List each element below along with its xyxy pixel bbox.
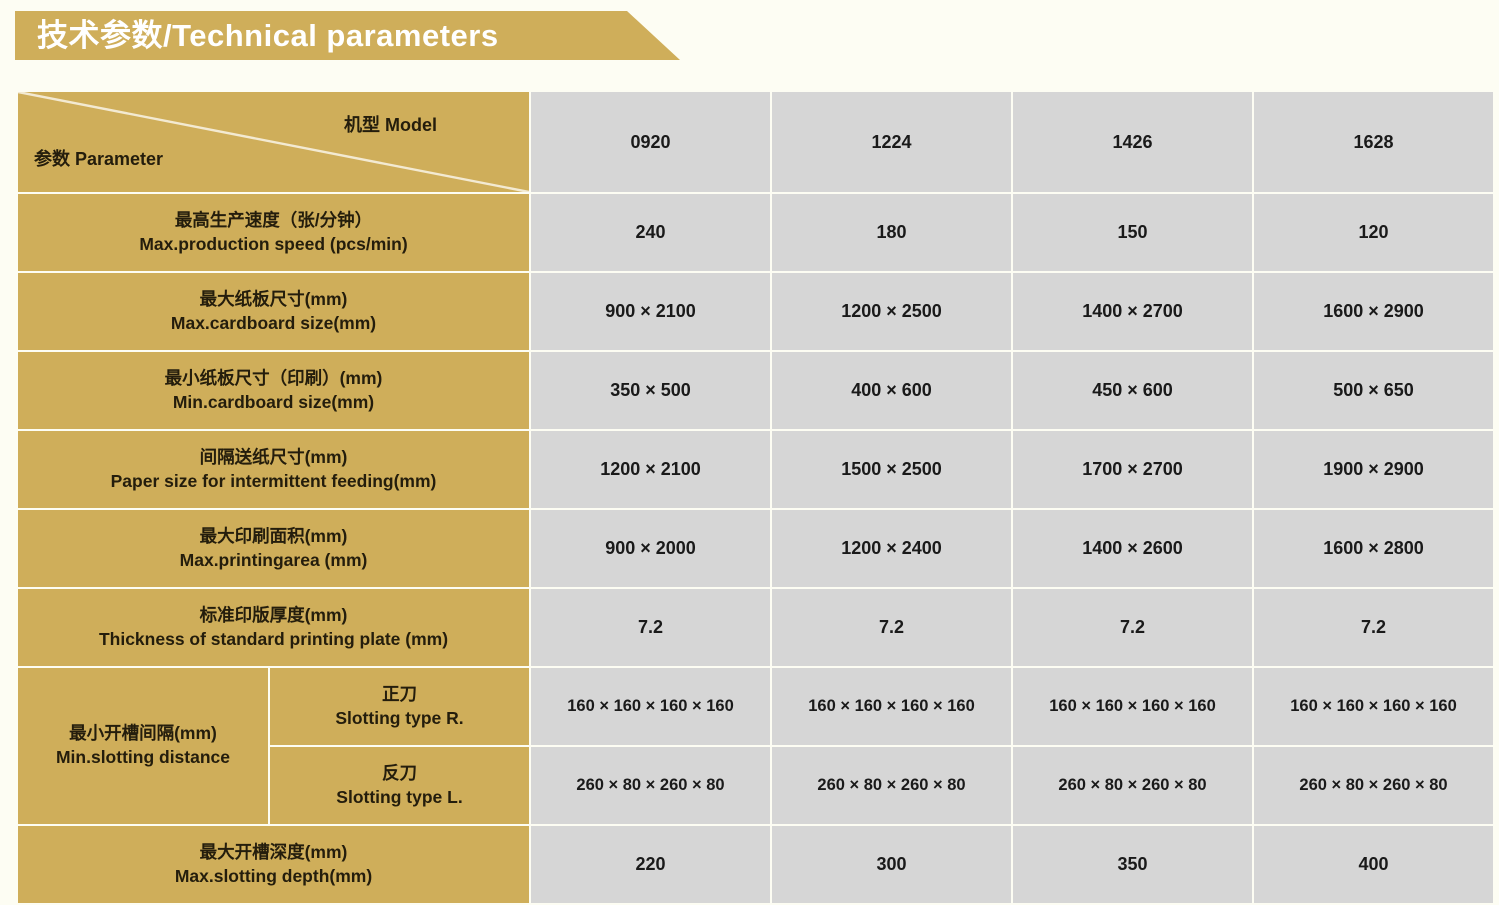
table-cell: 1700 × 2700 <box>1013 431 1252 508</box>
cell-value: 7.2 <box>1120 617 1145 638</box>
cell-value: 900 × 2000 <box>605 538 696 559</box>
row-label-min-cardboard-size: 最小纸板尺寸（印刷）(mm) Min.cardboard size(mm) <box>18 352 529 429</box>
section-banner: 技术参数/Technical parameters <box>15 11 680 60</box>
table-cell: 1200 × 2100 <box>531 431 770 508</box>
cell-value: 160 × 160 × 160 × 160 <box>1290 697 1457 716</box>
table-cell: 450 × 600 <box>1013 352 1252 429</box>
sub-row-label-cn: 正刀 <box>382 683 417 707</box>
technical-parameters-table: 机型 Model 参数 Parameter 0920 1224 1426 162… <box>16 90 1495 905</box>
cell-value: 160 × 160 × 160 × 160 <box>1049 697 1216 716</box>
cell-value: 7.2 <box>1361 617 1386 638</box>
table-cell: 160 × 160 × 160 × 160 <box>1013 668 1252 745</box>
table-header-row: 机型 Model 参数 Parameter 0920 1224 1426 162… <box>18 92 1493 192</box>
table-cell: 240 <box>531 194 770 271</box>
table-cell: 1200 × 2400 <box>772 510 1011 587</box>
row-label-en: Max.printingarea (mm) <box>180 549 368 573</box>
row-label-min-slotting-distance: 最小开槽间隔(mm) Min.slotting distance <box>18 668 268 824</box>
table-cell: 120 <box>1254 194 1493 271</box>
row-label-max-slotting-depth: 最大开槽深度(mm) Max.slotting depth(mm) <box>18 826 529 903</box>
cell-value: 260 × 80 × 260 × 80 <box>817 776 965 795</box>
row-label-cn: 最小开槽间隔(mm) <box>69 722 217 746</box>
row-label-paper-size-intermittent-feeding: 间隔送纸尺寸(mm) Paper size for intermittent f… <box>18 431 529 508</box>
table-cell: 500 × 650 <box>1254 352 1493 429</box>
model-name: 0920 <box>630 132 670 153</box>
cell-value: 7.2 <box>638 617 663 638</box>
row-label-en: Paper size for intermittent feeding(mm) <box>111 470 437 494</box>
cell-value: 260 × 80 × 260 × 80 <box>1058 776 1206 795</box>
model-header-1224: 1224 <box>772 92 1011 192</box>
table-cell: 350 <box>1013 826 1252 903</box>
table-cell: 260 × 80 × 260 × 80 <box>1013 747 1252 824</box>
table-cell: 150 <box>1013 194 1252 271</box>
sub-row-label-slotting-type-r: 正刀 Slotting type R. <box>270 668 529 745</box>
table-cell: 1400 × 2700 <box>1013 273 1252 350</box>
sub-row-label-en: Slotting type L. <box>336 786 462 810</box>
row-label-max-production-speed: 最高生产速度（张/分钟） Max.production speed (pcs/m… <box>18 194 529 271</box>
model-header-0920: 0920 <box>531 92 770 192</box>
table-cell: 7.2 <box>1254 589 1493 666</box>
table-row: 最小纸板尺寸（印刷）(mm) Min.cardboard size(mm) 35… <box>18 352 1493 429</box>
page-title: 技术参数/Technical parameters <box>37 11 499 60</box>
table-row: 间隔送纸尺寸(mm) Paper size for intermittent f… <box>18 431 1493 508</box>
table-cell: 400 <box>1254 826 1493 903</box>
cell-value: 1400 × 2600 <box>1082 538 1183 559</box>
table-cell: 7.2 <box>1013 589 1252 666</box>
cell-value: 1200 × 2500 <box>841 301 942 322</box>
row-label-cn: 标准印版厚度(mm) <box>200 604 348 628</box>
row-label-en: Min.slotting distance <box>56 746 230 770</box>
cell-value: 500 × 650 <box>1333 380 1414 401</box>
row-label-en: Max.production speed (pcs/min) <box>139 233 407 257</box>
cell-value: 1900 × 2900 <box>1323 459 1424 480</box>
table-row: 标准印版厚度(mm) Thickness of standard printin… <box>18 589 1493 666</box>
table-row: 最大纸板尺寸(mm) Max.cardboard size(mm) 900 × … <box>18 273 1493 350</box>
cell-value: 120 <box>1358 222 1388 243</box>
cell-value: 1200 × 2100 <box>600 459 701 480</box>
table-row: 最大印刷面积(mm) Max.printingarea (mm) 900 × 2… <box>18 510 1493 587</box>
table-cell: 1400 × 2600 <box>1013 510 1252 587</box>
cell-value: 400 × 600 <box>851 380 932 401</box>
cell-value: 400 <box>1358 854 1388 875</box>
table-cell: 300 <box>772 826 1011 903</box>
table-cell: 260 × 80 × 260 × 80 <box>1254 747 1493 824</box>
cell-value: 350 × 500 <box>610 380 691 401</box>
cell-value: 160 × 160 × 160 × 160 <box>567 697 734 716</box>
table-cell: 160 × 160 × 160 × 160 <box>1254 668 1493 745</box>
row-label-en: Max.slotting depth(mm) <box>175 865 372 889</box>
parameter-axis-label: 参数 Parameter <box>34 145 163 171</box>
row-label-cn: 最大开槽深度(mm) <box>200 841 348 865</box>
row-label-cn: 最高生产速度（张/分钟） <box>175 209 372 233</box>
table-cell: 180 <box>772 194 1011 271</box>
cell-value: 260 × 80 × 260 × 80 <box>576 776 724 795</box>
row-label-cn: 最大印刷面积(mm) <box>200 525 348 549</box>
cell-value: 240 <box>635 222 665 243</box>
cell-value: 900 × 2100 <box>605 301 696 322</box>
model-axis-label: 机型 Model <box>344 111 437 137</box>
technical-parameters-table-wrap: 机型 Model 参数 Parameter 0920 1224 1426 162… <box>16 90 1485 905</box>
row-label-printing-plate-thickness: 标准印版厚度(mm) Thickness of standard printin… <box>18 589 529 666</box>
table-cell: 900 × 2000 <box>531 510 770 587</box>
cell-value: 1600 × 2900 <box>1323 301 1424 322</box>
cell-value: 350 <box>1117 854 1147 875</box>
cell-value: 1700 × 2700 <box>1082 459 1183 480</box>
cell-value: 1500 × 2500 <box>841 459 942 480</box>
cell-value: 7.2 <box>879 617 904 638</box>
table-cell: 7.2 <box>772 589 1011 666</box>
table-cell: 1600 × 2900 <box>1254 273 1493 350</box>
sub-row-label-en: Slotting type R. <box>335 707 463 731</box>
cell-value: 160 × 160 × 160 × 160 <box>808 697 975 716</box>
cell-value: 1200 × 2400 <box>841 538 942 559</box>
diagonal-divider-icon <box>18 92 529 192</box>
model-header-1628: 1628 <box>1254 92 1493 192</box>
cell-value: 1400 × 2700 <box>1082 301 1183 322</box>
table-row: 最小开槽间隔(mm) Min.slotting distance 正刀 Slot… <box>18 668 1493 745</box>
row-label-en: Max.cardboard size(mm) <box>171 312 376 336</box>
row-label-cn: 间隔送纸尺寸(mm) <box>200 446 348 470</box>
cell-value: 1600 × 2800 <box>1323 538 1424 559</box>
sub-row-label-cn: 反刀 <box>382 762 417 786</box>
row-label-cn: 最小纸板尺寸（印刷）(mm) <box>165 367 383 391</box>
model-name: 1224 <box>871 132 911 153</box>
table-cell: 160 × 160 × 160 × 160 <box>772 668 1011 745</box>
table-row: 最大开槽深度(mm) Max.slotting depth(mm) 220 30… <box>18 826 1493 903</box>
cell-value: 450 × 600 <box>1092 380 1173 401</box>
table-cell: 1900 × 2900 <box>1254 431 1493 508</box>
cell-value: 300 <box>876 854 906 875</box>
cell-value: 220 <box>635 854 665 875</box>
table-cell: 260 × 80 × 260 × 80 <box>772 747 1011 824</box>
row-label-max-printing-area: 最大印刷面积(mm) Max.printingarea (mm) <box>18 510 529 587</box>
table-cell: 220 <box>531 826 770 903</box>
table-cell: 1200 × 2500 <box>772 273 1011 350</box>
model-header-1426: 1426 <box>1013 92 1252 192</box>
cell-value: 260 × 80 × 260 × 80 <box>1299 776 1447 795</box>
corner-header-cell: 机型 Model 参数 Parameter <box>18 92 529 192</box>
table-cell: 260 × 80 × 260 × 80 <box>531 747 770 824</box>
table-cell: 160 × 160 × 160 × 160 <box>531 668 770 745</box>
table-cell: 350 × 500 <box>531 352 770 429</box>
row-label-en: Min.cardboard size(mm) <box>173 391 374 415</box>
table-cell: 900 × 2100 <box>531 273 770 350</box>
row-label-max-cardboard-size: 最大纸板尺寸(mm) Max.cardboard size(mm) <box>18 273 529 350</box>
corner-diagonal-cell: 机型 Model 参数 Parameter <box>18 92 529 192</box>
model-name: 1426 <box>1112 132 1152 153</box>
cell-value: 150 <box>1117 222 1147 243</box>
table-cell: 7.2 <box>531 589 770 666</box>
table-cell: 1500 × 2500 <box>772 431 1011 508</box>
row-label-en: Thickness of standard printing plate (mm… <box>99 628 448 652</box>
row-label-cn: 最大纸板尺寸(mm) <box>200 288 348 312</box>
table-cell: 1600 × 2800 <box>1254 510 1493 587</box>
table-row: 最高生产速度（张/分钟） Max.production speed (pcs/m… <box>18 194 1493 271</box>
cell-value: 180 <box>876 222 906 243</box>
sub-row-label-slotting-type-l: 反刀 Slotting type L. <box>270 747 529 824</box>
table-cell: 400 × 600 <box>772 352 1011 429</box>
table-body: 机型 Model 参数 Parameter 0920 1224 1426 162… <box>18 92 1493 903</box>
model-name: 1628 <box>1353 132 1393 153</box>
